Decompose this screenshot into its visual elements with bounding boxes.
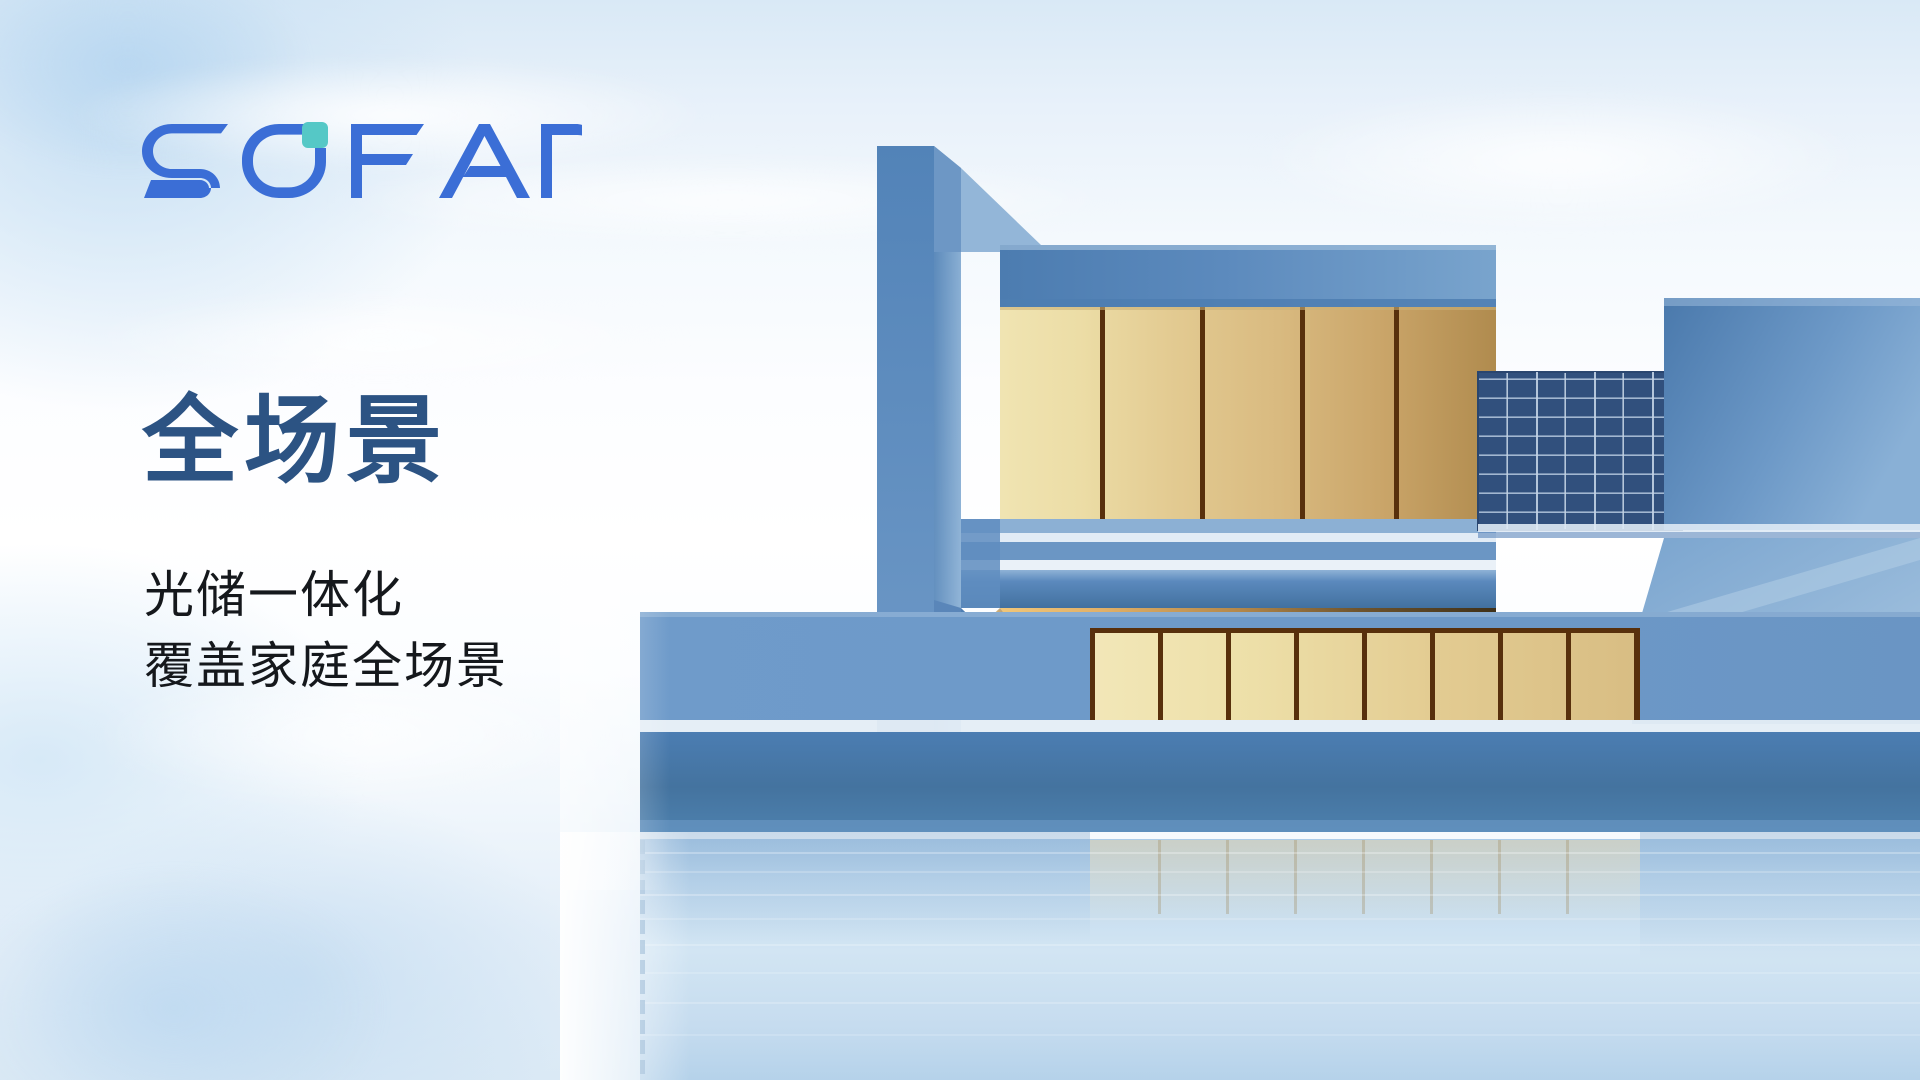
- subtitle-line-2: 覆盖家庭全场景: [144, 631, 508, 702]
- hero-banner: 全场景 光储一体化 覆盖家庭全场景: [0, 0, 1920, 1080]
- page-title: 全场景: [142, 392, 448, 493]
- upper-glass-curtain-wall: [1000, 307, 1496, 519]
- logo-letter-a: [439, 124, 530, 198]
- lower-glass-strip: [1090, 628, 1640, 720]
- subtitle-line-1: 光储一体化: [144, 560, 508, 631]
- page-subtitle: 光储一体化 覆盖家庭全场景: [144, 560, 508, 702]
- solar-panel-array: [1478, 372, 1682, 530]
- water-reflection: [560, 832, 1920, 1080]
- base-slab: [640, 720, 1920, 832]
- logo-letter-r: [541, 124, 582, 198]
- logo-accent-square: [302, 122, 328, 148]
- upper-roof-slab: [1000, 245, 1496, 307]
- logo-letter-s: [142, 124, 228, 198]
- upper-floor-slab: [961, 519, 1496, 608]
- logo-letter-f: [351, 124, 424, 198]
- hero-text-block: [142, 118, 702, 204]
- sofar-logo[interactable]: [142, 118, 582, 204]
